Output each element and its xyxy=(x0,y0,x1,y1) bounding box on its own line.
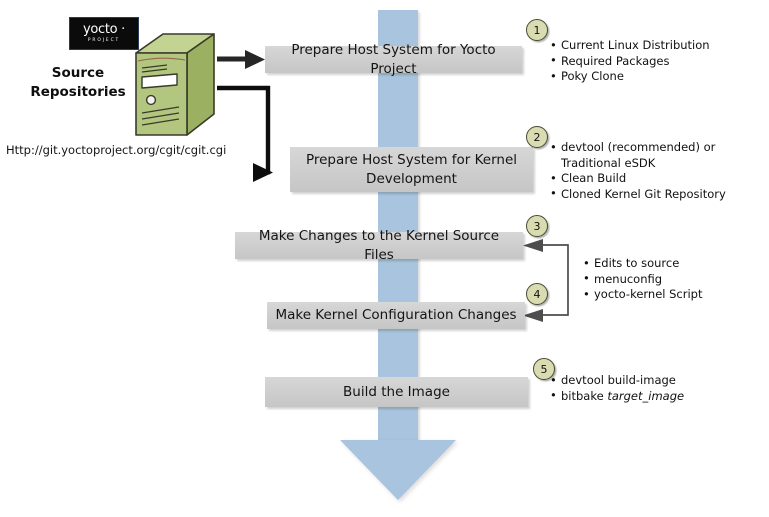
bullet-list-steps-3-and-4: Edits to source menuconfig yocto-kernel … xyxy=(583,256,763,303)
process-box-step-1[interactable]: Prepare Host System for Yocto Project xyxy=(265,46,522,73)
bullet-item: Clean Build xyxy=(550,171,765,187)
workflow-diagram: yocto · PROJECT Source Repositories Http… xyxy=(0,0,769,517)
bullet-item: devtool build-image xyxy=(550,373,765,389)
bullet-item: Edits to source xyxy=(583,256,763,272)
step-badge-4: 4 xyxy=(526,283,548,305)
source-label-line-2: Repositories xyxy=(18,83,138,102)
process-box-step-3[interactable]: Make Changes to the Kernel Source Files xyxy=(235,232,523,259)
bullet-italic-variable: target_image xyxy=(607,389,684,403)
logo-subtitle: PROJECT xyxy=(88,37,120,44)
bullet-item: bitbake target_image xyxy=(550,389,765,405)
bullet-list-step-1: Current Linux Distribution Required Pack… xyxy=(550,38,765,85)
bullet-list-step-2: devtool (recommended) or Traditional eSD… xyxy=(550,140,765,202)
bullet-item: Required Packages xyxy=(550,54,765,70)
main-flow-arrow-head xyxy=(340,440,456,500)
bullet-item: menuconfig xyxy=(583,272,763,288)
repository-url: Http://git.yoctoproject.org/cgit/cgit.cg… xyxy=(6,143,226,157)
source-label-line-1: Source xyxy=(18,64,138,83)
process-box-step-4[interactable]: Make Kernel Configuration Changes xyxy=(267,302,525,329)
bullet-item: Cloned Kernel Git Repository xyxy=(550,187,765,203)
bullet-list-step-5: devtool build-image bitbake target_image xyxy=(550,373,765,404)
step-badge-2: 2 xyxy=(526,126,548,148)
process-box-step-5[interactable]: Build the Image xyxy=(265,377,528,407)
server-tower-icon xyxy=(133,31,217,139)
bullet-prefix: bitbake xyxy=(561,389,607,403)
step-badge-1: 1 xyxy=(526,19,548,41)
bullet-item: Poky Clone xyxy=(550,69,765,85)
logo-wordmark: yocto · xyxy=(83,23,125,36)
bullet-item: yocto-kernel Script xyxy=(583,287,763,303)
yocto-project-logo: yocto · PROJECT xyxy=(69,17,139,50)
step-badge-3: 3 xyxy=(526,215,548,237)
source-repositories-label: Source Repositories xyxy=(18,64,138,102)
bullet-item: Current Linux Distribution xyxy=(550,38,765,54)
bullet-item: devtool (recommended) or Traditional eSD… xyxy=(550,140,765,171)
process-box-step-2[interactable]: Prepare Host System for Kernel Developme… xyxy=(290,147,533,192)
